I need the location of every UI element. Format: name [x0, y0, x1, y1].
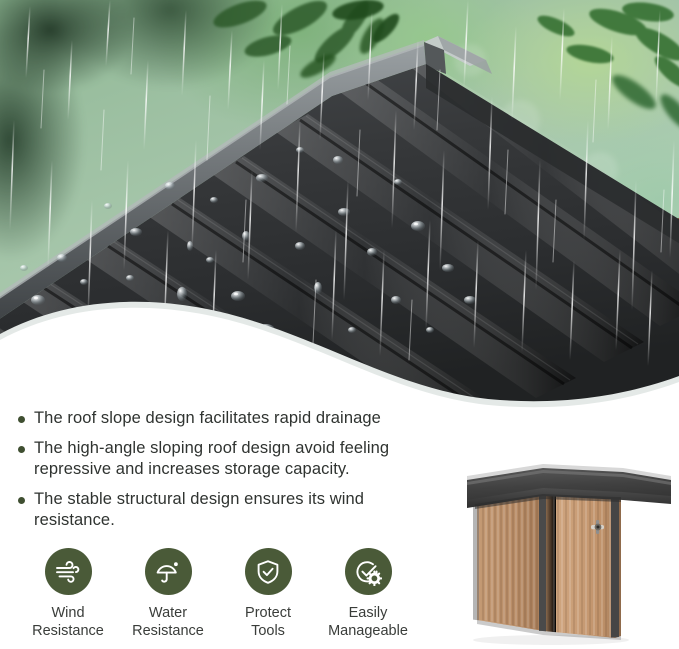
umbrella-icon [145, 548, 192, 595]
bullet-dot-icon [18, 446, 25, 453]
feature-icon-row: Wind Resistance Water Resistance [18, 548, 438, 640]
bullet-text: The high-angle sloping roof design avoid… [34, 438, 448, 480]
feature-label: Wind Resistance [32, 604, 104, 640]
bullet-text: The roof slope design facilitates rapid … [34, 408, 381, 429]
feature-wind-resistance: Wind Resistance [18, 548, 118, 640]
feature-label: Water Resistance [132, 604, 204, 640]
wave-divider [0, 290, 679, 410]
product-feature-panel: The roof slope design facilitates rapid … [0, 0, 679, 649]
bullet-dot-icon [18, 497, 25, 504]
feature-label-line2: Manageable [328, 622, 408, 640]
wind-icon [45, 548, 92, 595]
feature-protect-tools: Protect Tools [218, 548, 318, 640]
feature-label-line1: Wind [32, 604, 104, 622]
check-gear-icon [345, 548, 392, 595]
bullet-text: The stable structural design ensures its… [34, 489, 448, 531]
feature-label: Easily Manageable [328, 604, 408, 640]
feature-bullet-list: The roof slope design facilitates rapid … [18, 408, 448, 540]
feature-label-line1: Protect [245, 604, 291, 622]
feature-label-line2: Resistance [32, 622, 104, 640]
feature-label: Protect Tools [245, 604, 291, 640]
feature-label-line1: Easily [328, 604, 408, 622]
feature-label-line2: Tools [245, 622, 291, 640]
list-item: The stable structural design ensures its… [18, 489, 448, 531]
product-image [455, 424, 679, 649]
shield-check-icon [245, 548, 292, 595]
feature-easily-manageable: Easily Manageable [318, 548, 418, 640]
feature-label-line2: Resistance [132, 622, 204, 640]
hero-photo [0, 0, 679, 410]
feature-label-line1: Water [132, 604, 204, 622]
list-item: The roof slope design facilitates rapid … [18, 408, 448, 429]
bullet-dot-icon [18, 416, 25, 423]
list-item: The high-angle sloping roof design avoid… [18, 438, 448, 480]
shed-illustration [455, 424, 679, 649]
feature-water-resistance: Water Resistance [118, 548, 218, 640]
